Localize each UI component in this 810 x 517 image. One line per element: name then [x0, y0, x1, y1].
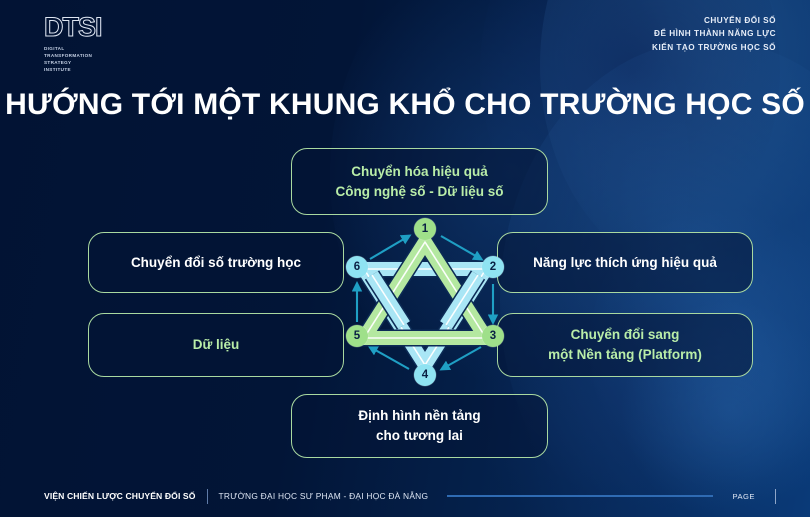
concept-box-right-1-line1: Năng lực thích ứng hiệu quả [533, 253, 717, 273]
footer-divider [207, 489, 208, 504]
step-number-5: 5 [346, 325, 368, 347]
footer-rule [447, 495, 713, 496]
logo-subtitle-line: INSTITUTE [44, 66, 102, 73]
footer-end-tick [775, 489, 776, 504]
concept-box-bottom-line2: cho tương lai [358, 426, 480, 446]
concept-box-bottom-line1: Định hình nền tảng [358, 406, 480, 426]
logo-subtitle-line: DIGITAL [44, 45, 102, 52]
slide-footer: VIỆN CHIẾN LƯỢC CHUYỂN ĐỔI SỐ TRƯỜNG ĐẠI… [0, 475, 810, 517]
concept-box-top-line1: Chuyển hóa hiệu quả [335, 162, 503, 182]
step-number-4: 4 [414, 364, 436, 386]
dtsi-logo: DTSI DIGITAL TRANSFORMATION STRATEGY INS… [44, 14, 102, 73]
logo-subtitle: DIGITAL TRANSFORMATION STRATEGY INSTITUT… [44, 45, 102, 73]
concept-box-right-1: Năng lực thích ứng hiệu quả [497, 232, 753, 293]
concept-box-left-1: Chuyển đổi số trường học [88, 232, 344, 293]
header-tagline: CHUYỂN ĐỔI SỐ ĐỂ HÌNH THÀNH NĂNG LỰC KIẾ… [652, 14, 776, 54]
star-diagram-svg [342, 218, 508, 388]
concept-box-left-2: Dữ liệu [88, 313, 344, 377]
step-number-3: 3 [482, 325, 504, 347]
arrow-4-to-5 [370, 347, 409, 369]
footer-organization: TRƯỜNG ĐẠI HỌC SƯ PHẠM - ĐẠI HỌC ĐÀ NẴNG [219, 491, 429, 501]
header-tagline-line1: CHUYỂN ĐỔI SỐ [652, 14, 776, 27]
step-number-6: 6 [346, 256, 368, 278]
slide: DTSI DIGITAL TRANSFORMATION STRATEGY INS… [0, 0, 810, 517]
logo-wordmark: DTSI [44, 14, 102, 41]
footer-brand: VIỆN CHIẾN LƯỢC CHUYỂN ĐỔI SỐ [44, 491, 196, 501]
step-number-2: 2 [482, 256, 504, 278]
star-diagram: 1 2 3 4 5 6 [342, 218, 508, 388]
concept-box-right-2-line1: Chuyển đổi sang [548, 325, 702, 345]
arrow-6-to-1 [370, 236, 409, 259]
concept-box-top-line2: Công nghệ số - Dữ liệu số [335, 182, 503, 202]
arrow-3-to-4 [442, 347, 481, 369]
concept-box-left-1-line1: Chuyển đổi số trường học [131, 253, 301, 273]
step-number-1: 1 [414, 218, 436, 240]
arrow-1-to-2 [441, 236, 481, 259]
footer-page-label: PAGE [732, 492, 755, 501]
page-title: HƯỚNG TỚI MỘT KHUNG KHỔ CHO TRƯỜNG HỌC S… [0, 88, 810, 122]
concept-box-right-2: Chuyển đổi sang một Nền tảng (Platform) [497, 313, 753, 377]
logo-subtitle-line: TRANSFORMATION [44, 52, 102, 59]
header-tagline-line2: ĐỂ HÌNH THÀNH NĂNG LỰC [652, 27, 776, 40]
concept-box-left-2-line1: Dữ liệu [193, 335, 240, 355]
concept-box-top: Chuyển hóa hiệu quả Công nghệ số - Dữ li… [291, 148, 548, 215]
logo-subtitle-line: STRATEGY [44, 59, 102, 66]
header-tagline-line3: KIẾN TẠO TRƯỜNG HỌC SỐ [652, 41, 776, 54]
concept-box-right-2-line2: một Nền tảng (Platform) [548, 345, 702, 365]
concept-box-bottom: Định hình nền tảng cho tương lai [291, 394, 548, 458]
